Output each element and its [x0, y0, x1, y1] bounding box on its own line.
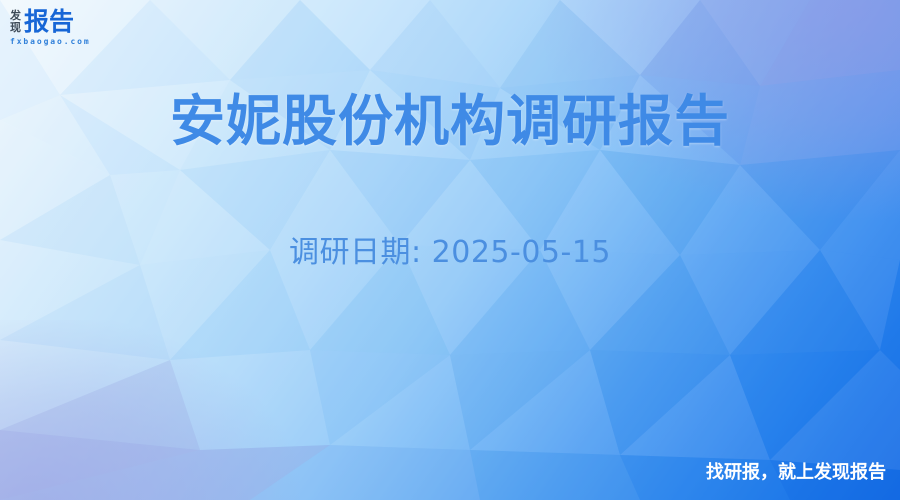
- background-tint-bottom-left: [0, 320, 300, 500]
- page-title: 安妮股份机构调研报告: [0, 88, 900, 154]
- survey-date-subtitle: 调研日期: 2025-05-15: [0, 233, 900, 273]
- logo-mark-bottom: 现: [10, 22, 21, 34]
- logo-wordmark-row: 发 现 报告: [10, 9, 130, 35]
- logo-url: fxbaogao.com: [10, 37, 130, 46]
- footer-slogan: 找研报，就上发现报告: [706, 462, 886, 484]
- logo-mark-stack: 发 现: [10, 9, 21, 34]
- site-logo[interactable]: 发 现 报告 fxbaogao.com: [10, 9, 130, 46]
- report-cover-slide: 发 现 报告 fxbaogao.com 安妮股份机构调研报告 调研日期: 202…: [0, 0, 900, 500]
- logo-wordmark: 报告: [24, 9, 74, 35]
